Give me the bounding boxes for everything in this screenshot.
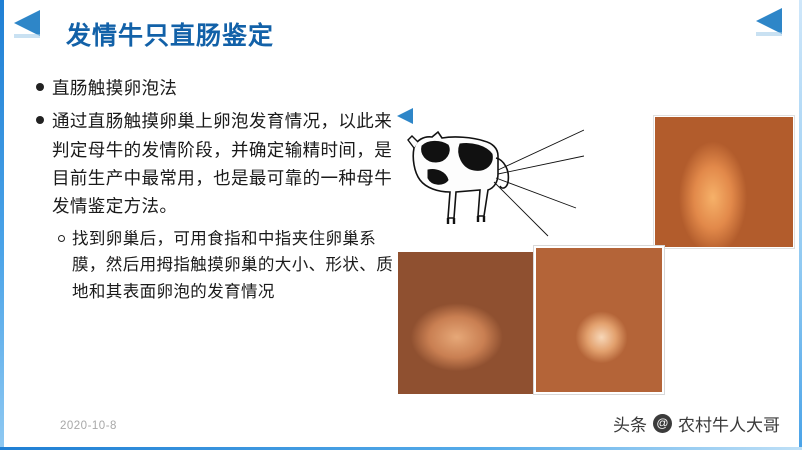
left-border-accent: [0, 0, 4, 450]
bullet-item-sub: 找到卵巢后，可用食指和中指夹住卵巢系膜，然后用拇指触摸卵巢的大小、形状、质地和其…: [56, 226, 406, 305]
bullet-item: 直肠触摸卵泡法: [34, 74, 406, 102]
watermark: 头条 @ 农村牛人大哥: [613, 411, 780, 436]
watermark-author: 农村牛人大哥: [678, 411, 780, 436]
filled-dot-icon: [36, 83, 44, 91]
bullet-text: 通过直肠触摸卵巢上卵泡发育情况，以此来判定母牛的发情阶段，并确定输精时间，是目前…: [52, 107, 406, 220]
ovary-closeup-photo: [534, 246, 664, 394]
bullet-text: 直肠触摸卵泡法: [52, 74, 177, 102]
bullet-text: 找到卵巢后，可用食指和中指夹住卵巢系膜，然后用拇指触摸卵巢的大小、形状、质地和其…: [72, 226, 406, 305]
slide-date: 2020-10-8: [60, 420, 117, 432]
watermark-badge-icon: @: [653, 414, 672, 433]
right-flag-icon: [756, 8, 782, 34]
ovary-photo-top-right: [654, 116, 794, 248]
watermark-prefix: 头条: [613, 411, 647, 436]
cow-diagram: [398, 112, 584, 252]
hollow-circle-icon: [58, 235, 65, 242]
filled-dot-icon: [36, 116, 44, 124]
cow-diagram-svg: [398, 112, 584, 252]
page-title: 发情牛只直肠鉴定: [66, 16, 274, 52]
slide-header: 发情牛只直肠鉴定: [0, 0, 802, 62]
right-flag-shadow-icon: [756, 32, 782, 36]
body-content: 直肠触摸卵泡法 通过直肠触摸卵巢上卵泡发育情况，以此来判定母牛的发情阶段，并确定…: [34, 74, 406, 310]
bullet-item: 通过直肠触摸卵巢上卵泡发育情况，以此来判定母牛的发情阶段，并确定输精时间，是目前…: [34, 107, 406, 220]
left-flag-shadow-icon: [14, 34, 40, 38]
left-flag-icon: [14, 10, 40, 36]
slide: 发情牛只直肠鉴定 直肠触摸卵泡法 通过直肠触摸卵巢上卵泡发育情况，以此来判定母牛…: [0, 0, 802, 450]
